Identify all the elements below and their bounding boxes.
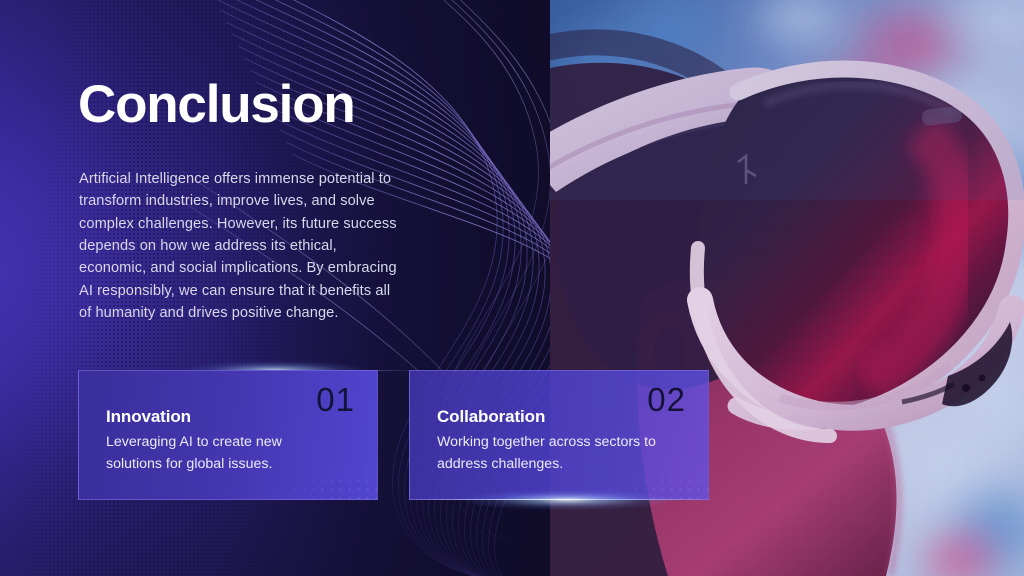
card-number: 01: [316, 379, 355, 422]
feature-card-innovation[interactable]: 01 Innovation Leveraging AI to create ne…: [78, 370, 378, 500]
card-description: Working together across sectors to addre…: [437, 431, 671, 475]
card-description: Leveraging AI to create new solutions fo…: [106, 431, 340, 475]
feature-card-collaboration[interactable]: 02 Collaboration Working together across…: [409, 370, 709, 500]
card-number: 02: [647, 379, 686, 422]
page-title: Conclusion: [78, 78, 355, 131]
card-title: Collaboration: [437, 407, 545, 427]
card-title: Innovation: [106, 407, 191, 427]
body-paragraph: Artificial Intelligence offers immense p…: [79, 168, 397, 324]
presentation-slide: Conclusion Artificial Intelligence offer…: [0, 0, 1024, 576]
